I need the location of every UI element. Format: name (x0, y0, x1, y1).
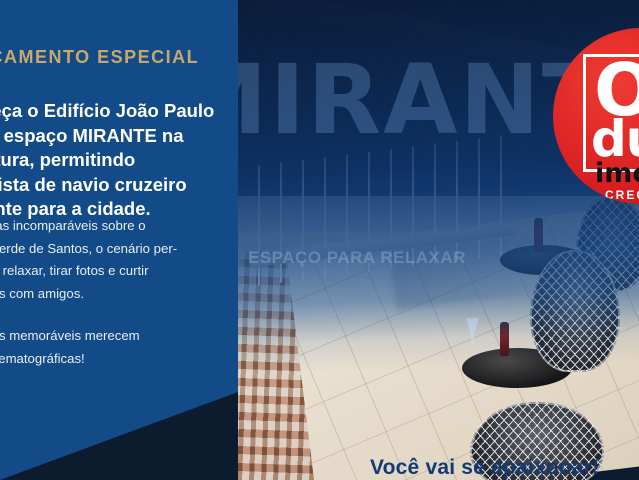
page-title: Conheça o Edifício João Paulo com o espa… (0, 99, 244, 222)
body-paragraph-1: Com vistas incomparáveis sobre o mar e o… (0, 215, 244, 306)
photo-wine-bottle (500, 322, 509, 356)
tagline: Você vai se apaixonar! (370, 456, 599, 480)
photo-wicker-chair (530, 250, 620, 372)
body-paragraph-2: Momentos memoráveis merecem vistas cinem… (0, 325, 244, 370)
logo-creci-label: CRECI (605, 188, 639, 202)
logo-word-imoveis: imó (595, 160, 639, 187)
photo-wine-bottle (534, 218, 543, 252)
logo-letters-du: du (591, 114, 639, 164)
promo-banner: MIRANTE ESPAÇO PARA RELAXAR LANÇAMENTO E… (0, 0, 639, 480)
kicker-label: LANÇAMENTO ESPECIAL (0, 47, 199, 68)
